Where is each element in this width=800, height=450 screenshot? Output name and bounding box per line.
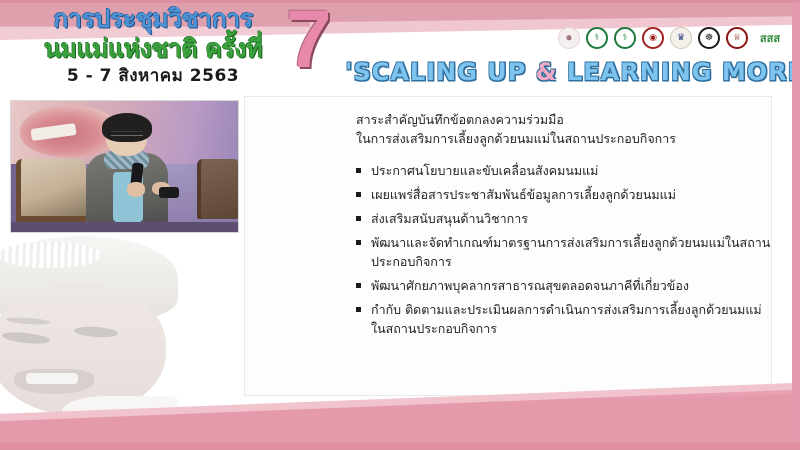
theme-prefix: 'SCALING UP bbox=[345, 58, 536, 86]
event-number-seven: 7 bbox=[286, 0, 332, 80]
ministry-public-health-logo-1-icon: ⚕ bbox=[586, 27, 608, 49]
slide-frame-right bbox=[792, 0, 800, 450]
list-item: ประกาศนโยบายและขับเคลื่อนสังคมนมแม่ bbox=[356, 161, 776, 180]
conference-theme-title: 'SCALING UP & LEARNING MORE' bbox=[345, 58, 790, 86]
stage-floor bbox=[11, 222, 238, 232]
event-title-line1: การประชุมวิชาการ bbox=[18, 4, 288, 34]
speaker-video-thumbnail[interactable] bbox=[10, 100, 239, 233]
ministry-public-health-logo-2-icon: ⚕ bbox=[614, 27, 636, 49]
baby-photo-watermark bbox=[0, 236, 182, 426]
speaker-hair bbox=[102, 113, 152, 142]
list-item: เผยแพร่สื่อสารประชาสัมพันธ์ข้อมูลการเลี้… bbox=[356, 185, 776, 204]
theme-suffix: LEARNING MORE' bbox=[558, 58, 800, 86]
baby-teeth bbox=[26, 373, 78, 384]
speaker-hand-left bbox=[127, 182, 145, 196]
list-item: ส่งเสริมสนับสนุนด้านวิชาการ bbox=[356, 209, 776, 228]
baby-hat-texture bbox=[0, 242, 102, 269]
intro-line-2: ในการส่งเสริมการเลี้ยงลูกด้วยนมแม่ในสถาน… bbox=[356, 129, 776, 148]
black-circle-emblem-logo-icon: ☸ bbox=[698, 27, 720, 49]
slide-frame-top bbox=[0, 0, 800, 3]
slide-body: สาระสำคัญบันทึกข้อตกลงความร่วมมือ ในการส… bbox=[356, 110, 776, 343]
event-logo: การประชุมวิชาการ นมแม่แห่งชาติ ครั้งที่ … bbox=[18, 4, 288, 90]
chair-left bbox=[16, 159, 86, 222]
royal-patronage-emblem-icon: ๏ bbox=[558, 27, 580, 49]
list-item: กำกับ ติดตามและประเมินผลการดำเนินการส่งเ… bbox=[356, 300, 776, 338]
intro-line-1: สาระสำคัญบันทึกข้อตกลงความร่วมมือ bbox=[356, 110, 776, 129]
royal-crest-logo-icon: ♛ bbox=[670, 27, 692, 49]
event-title-line2: นมแม่แห่งชาติ ครั้งที่ bbox=[18, 34, 288, 64]
list-item: พัฒนาศักยภาพบุคลากรสาธารณสุขตลอดจนภาคีที… bbox=[356, 276, 776, 295]
thaihealth-sss-logo-icon: สสส bbox=[754, 27, 786, 49]
chair-right bbox=[197, 159, 238, 219]
presentation-slide: การประชุมวิชาการ นมแม่แห่งชาติ ครั้งที่ … bbox=[0, 0, 800, 450]
list-item: พัฒนาและจัดทำเกณฑ์มาตรฐานการส่งเสริมการเ… bbox=[356, 233, 776, 271]
garuda-emblem-logo-icon: ◉ bbox=[642, 27, 664, 49]
event-date: 5 - 7 สิงหาคม 2563 bbox=[18, 64, 288, 88]
speaker-glasses bbox=[111, 131, 143, 136]
slide-frame-bottom bbox=[0, 443, 800, 450]
sponsor-logo-strip: ๏ ⚕ ⚕ ◉ ♛ ☸ ♕ สสส bbox=[558, 27, 786, 49]
remote-control bbox=[159, 187, 179, 197]
theme-ampersand: & bbox=[536, 58, 558, 86]
red-crest-logo-icon: ♕ bbox=[726, 27, 748, 49]
bullet-list: ประกาศนโยบายและขับเคลื่อนสังคมนมแม่ เผยแ… bbox=[356, 161, 776, 338]
